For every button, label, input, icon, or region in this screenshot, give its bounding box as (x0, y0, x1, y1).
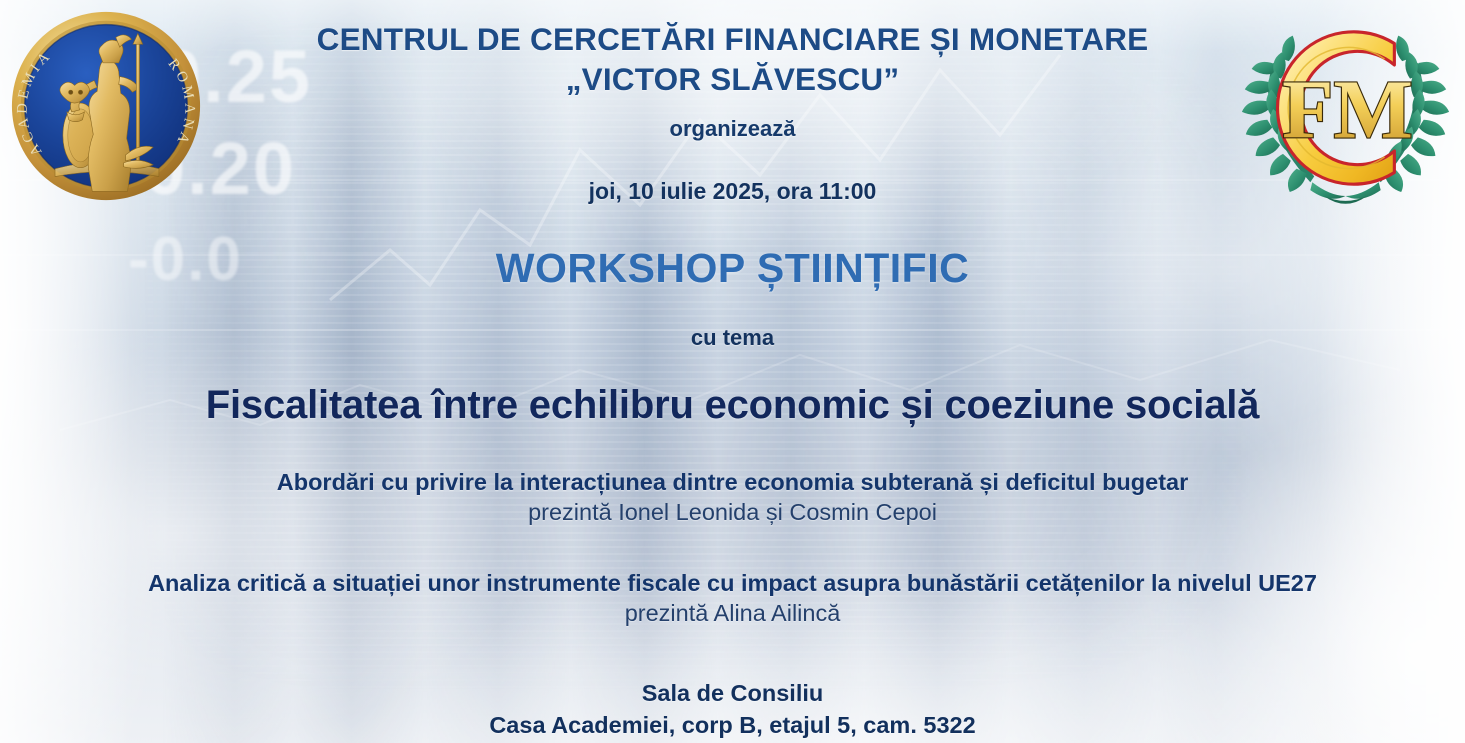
academia-romana-logo: ACADEMIA ROMANA (8, 8, 204, 204)
paper-authors-2: prezintă Alina Ailincă (0, 598, 1465, 628)
event-type-heading: WORKSHOP ȘTIINȚIFIC (0, 245, 1465, 292)
cu-tema-label: cu tema (0, 325, 1465, 351)
cfm-letters-fm: FM (1282, 63, 1413, 156)
paper-authors-1: prezintă Ionel Leonida și Cosmin Cepoi (0, 497, 1465, 527)
event-theme-title: Fiscalitatea între echilibru economic și… (0, 383, 1465, 428)
venue-address: Casa Academiei, corp B, etajul 5, cam. 5… (0, 709, 1465, 741)
event-poster: 0.25 0.20 -0.0 (0, 0, 1465, 743)
paper-title-1: Abordări cu privire la interacțiunea din… (0, 467, 1465, 497)
cfm-logo: FM (1238, 4, 1453, 212)
venue-room: Sala de Consiliu (0, 677, 1465, 709)
paper-title-2: Analiza critică a situației unor instrum… (0, 568, 1465, 598)
